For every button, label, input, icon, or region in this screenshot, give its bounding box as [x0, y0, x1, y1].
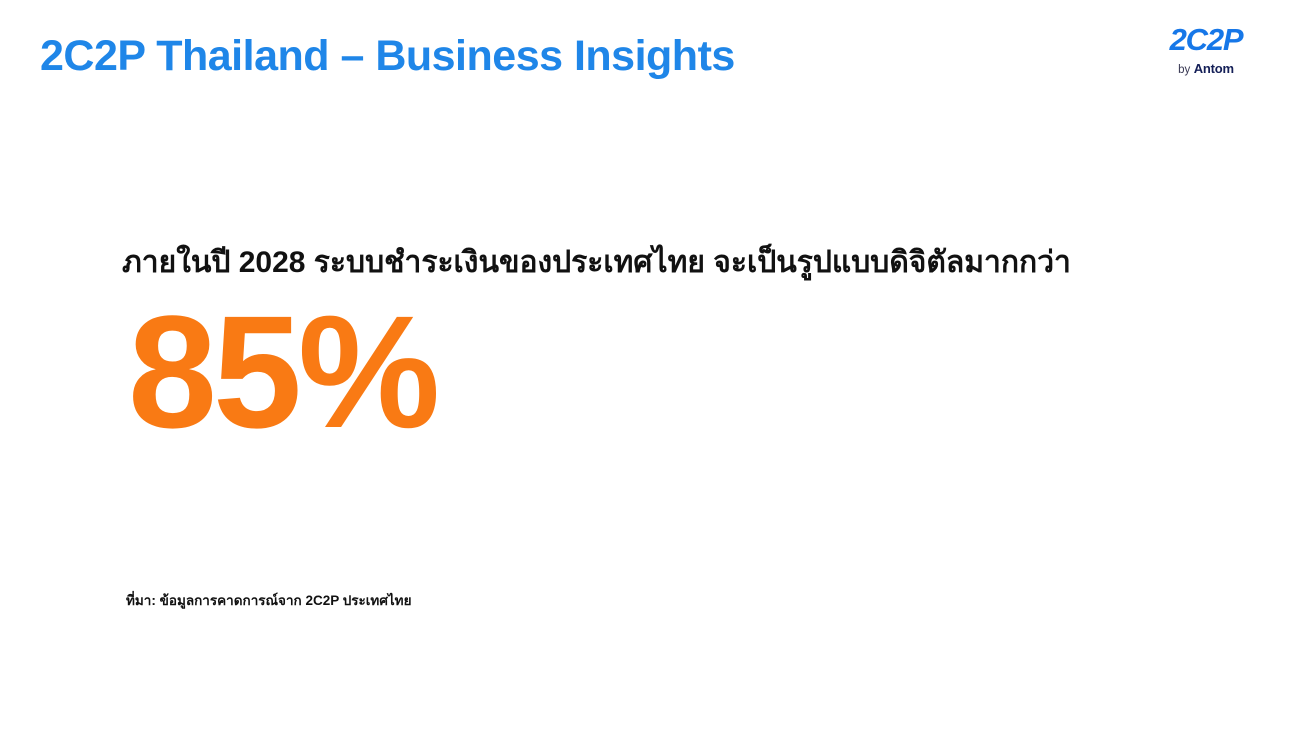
source-note: ที่มา: ข้อมูลการคาดการณ์จาก 2C2P ประเทศไ… [126, 589, 412, 611]
logo-byline: by Antom [1150, 62, 1262, 77]
brand-logo: 2C2P by Antom [1150, 24, 1262, 77]
main-content: ภายในปี 2028 ระบบชำระเงินของประเทศไทย จะ… [122, 244, 1240, 456]
headline-text: ภายในปี 2028 ระบบชำระเงินของประเทศไทย จะ… [122, 244, 1240, 282]
logo-wordmark: 2C2P [1150, 24, 1262, 55]
page-title: 2C2P Thailand – Business Insights [40, 32, 735, 81]
logo-byline-brand: Antom [1194, 61, 1234, 76]
slide-canvas: 2C2P Thailand – Business Insights 2C2P b… [0, 0, 1300, 731]
logo-byline-prefix: by [1178, 64, 1190, 76]
stat-percentage: 85% [128, 288, 1240, 456]
